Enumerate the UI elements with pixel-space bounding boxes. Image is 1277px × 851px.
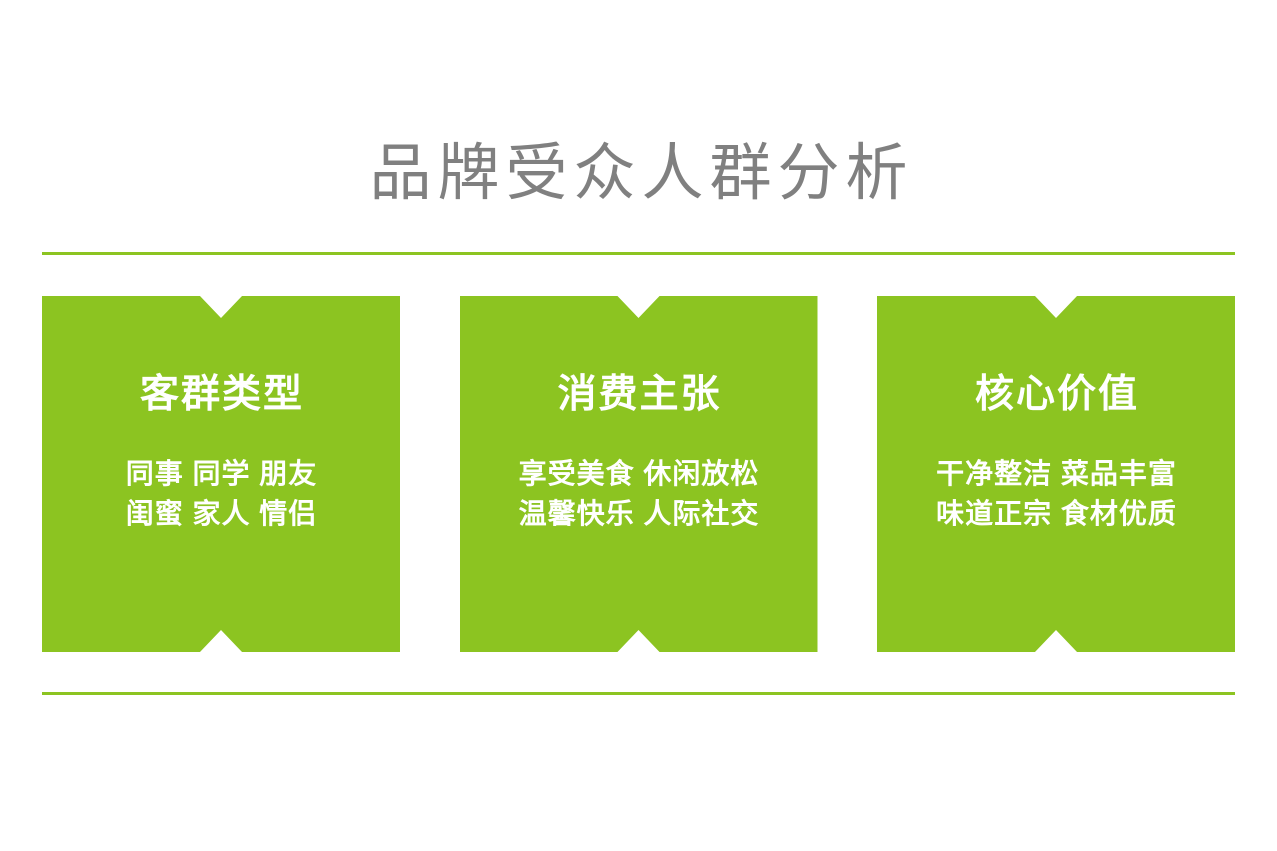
card-body: 同事 同学 朋友 闺蜜 家人 情侣 xyxy=(125,454,318,534)
page-title: 品牌受众人群分析 xyxy=(0,138,1277,210)
card-line-2: 温馨快乐 人际社交 xyxy=(518,494,760,534)
card-heading: 核心价值 xyxy=(973,372,1139,418)
card-body: 干净整洁 菜品丰富 味道正宗 食材优质 xyxy=(935,454,1177,534)
divider-top xyxy=(42,252,1235,255)
card-line-1: 干净整洁 菜品丰富 xyxy=(935,454,1177,494)
card-line-1: 同事 同学 朋友 xyxy=(125,454,318,494)
card-consumption-proposition[interactable]: 消费主张 享受美食 休闲放松 温馨快乐 人际社交 xyxy=(460,296,818,652)
card-line-1: 享受美食 休闲放松 xyxy=(518,454,760,494)
card-heading: 客群类型 xyxy=(138,372,304,418)
card-customer-type[interactable]: 客群类型 同事 同学 朋友 闺蜜 家人 情侣 xyxy=(42,296,400,652)
card-heading: 消费主张 xyxy=(555,372,721,418)
card-core-value[interactable]: 核心价值 干净整洁 菜品丰富 味道正宗 食材优质 xyxy=(877,296,1235,652)
card-row: 客群类型 同事 同学 朋友 闺蜜 家人 情侣 消费主张 享受美食 休闲放松 温馨… xyxy=(42,296,1235,652)
card-line-2: 味道正宗 食材优质 xyxy=(935,494,1177,534)
card-body: 享受美食 休闲放松 温馨快乐 人际社交 xyxy=(518,454,760,534)
divider-bottom xyxy=(42,692,1235,695)
slide-canvas: 品牌受众人群分析 客群类型 同事 同学 朋友 闺蜜 家人 情侣 消费主张 享受美… xyxy=(0,0,1277,851)
card-line-2: 闺蜜 家人 情侣 xyxy=(125,494,318,534)
